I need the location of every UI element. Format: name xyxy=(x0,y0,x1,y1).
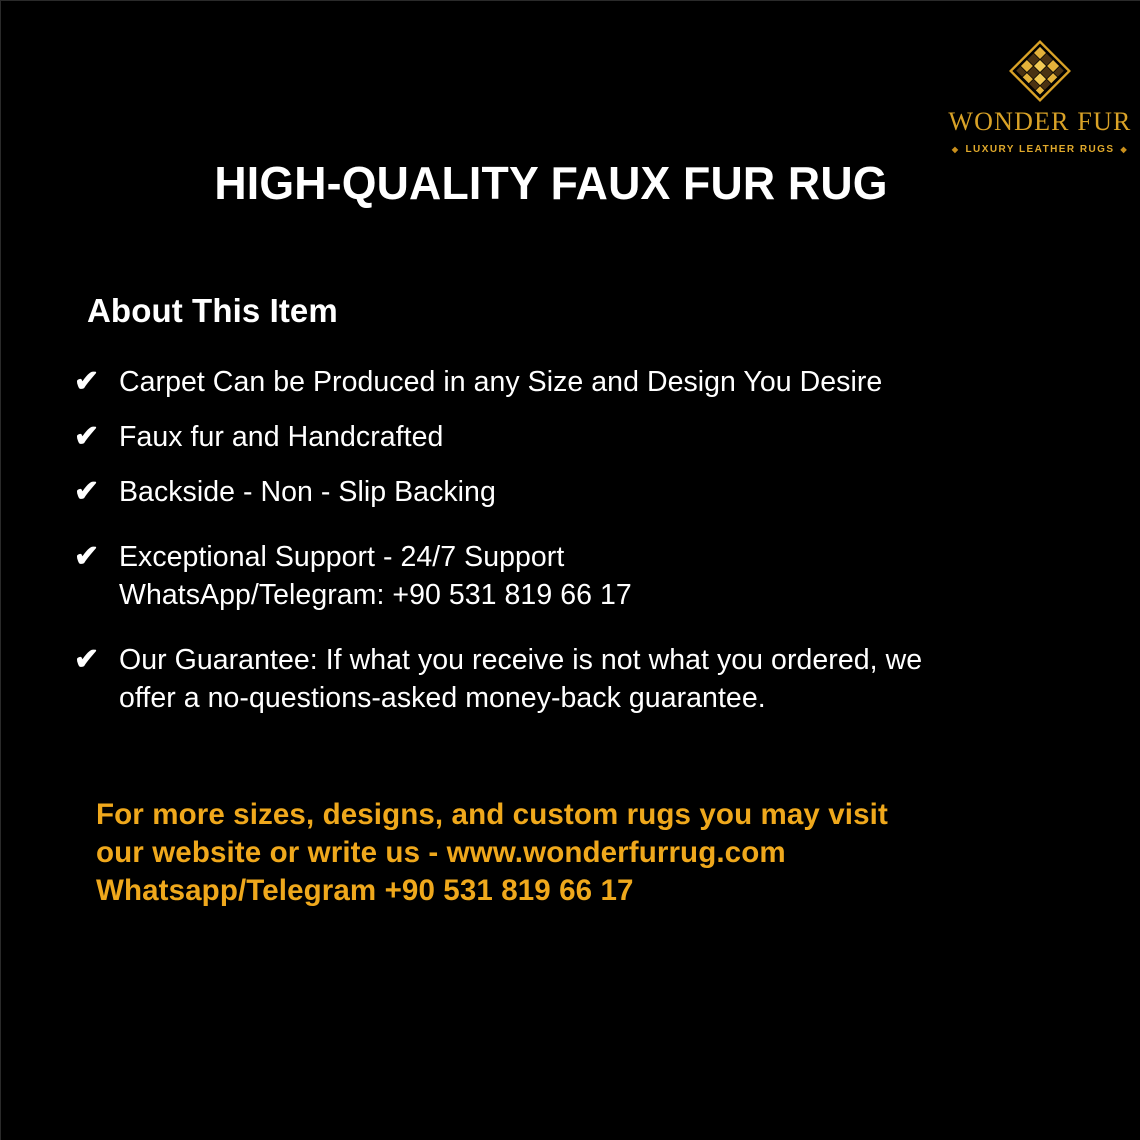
check-mark-icon: ✔ xyxy=(69,363,119,401)
page-title: HIGH-QUALITY FAUX FUR RUG xyxy=(18,156,1085,210)
promo-line-3: Whatsapp/Telegram +90 531 819 66 17 xyxy=(96,872,1042,910)
brand-wordmark: WONDER FUR xyxy=(948,109,1131,135)
list-item: ✔ Our Guarantee: If what you receive is … xyxy=(69,641,1079,717)
list-item: ✔ Exceptional Support - 24/7 Support Wha… xyxy=(69,538,1079,614)
diamond-checkerboard-icon xyxy=(1003,34,1077,108)
product-infographic-canvas: WONDER FUR ◆ LUXURY LEATHER RUGS ◆ HIGH-… xyxy=(0,0,1140,1140)
promo-line-2: our website or write us - www.wonderfurr… xyxy=(96,834,1042,872)
list-item: ✔ Carpet Can be Produced in any Size and… xyxy=(69,363,1079,401)
promo-line-1: For more sizes, designs, and custom rugs… xyxy=(96,796,1042,834)
check-mark-icon: ✔ xyxy=(69,473,119,511)
list-item-label: Carpet Can be Produced in any Size and D… xyxy=(119,363,1079,401)
list-item-label: Backside - Non - Slip Backing xyxy=(119,473,1079,511)
feature-list: ✔ Carpet Can be Produced in any Size and… xyxy=(69,363,1079,739)
brand-tagline-text: LUXURY LEATHER RUGS xyxy=(965,144,1114,155)
list-item: ✔ Faux fur and Handcrafted xyxy=(69,418,1079,456)
list-item-label: Our Guarantee: If what you receive is no… xyxy=(119,641,1079,717)
brand-logo: WONDER FUR ◆ LUXURY LEATHER RUGS ◆ xyxy=(954,34,1126,154)
diamond-ornament-right-icon: ◆ xyxy=(1121,146,1129,154)
section-heading-about-this-item: About This Item xyxy=(87,292,338,330)
promo-contact-block: For more sizes, designs, and custom rugs… xyxy=(96,796,1056,910)
check-mark-icon: ✔ xyxy=(69,538,119,576)
list-item: ✔ Backside - Non - Slip Backing xyxy=(69,473,1079,511)
diamond-ornament-left-icon: ◆ xyxy=(952,146,960,154)
check-mark-icon: ✔ xyxy=(69,641,119,679)
check-mark-icon: ✔ xyxy=(69,418,119,456)
brand-tagline: ◆ LUXURY LEATHER RUGS ◆ xyxy=(952,144,1128,155)
list-item-label: Faux fur and Handcrafted xyxy=(119,418,1079,456)
list-item-label: Exceptional Support - 24/7 Support Whats… xyxy=(119,538,1079,614)
